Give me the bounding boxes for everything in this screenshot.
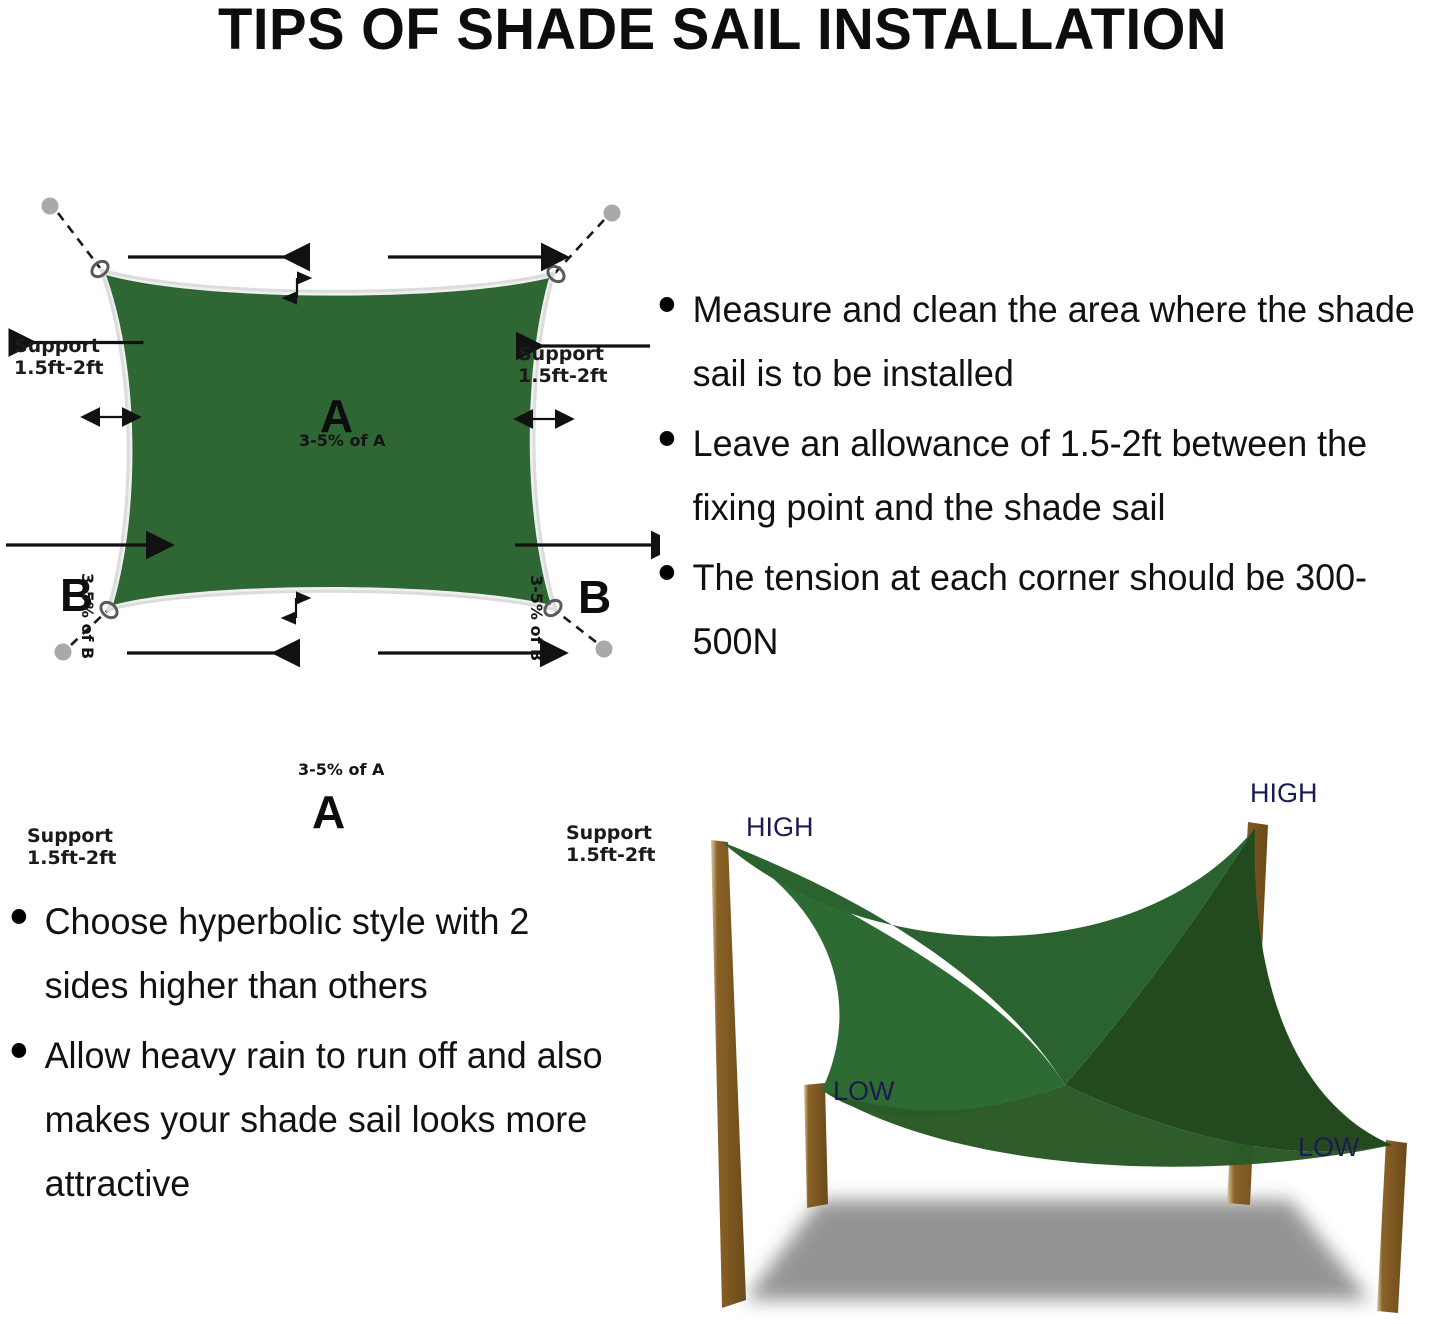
label-high-left: HIGH bbox=[746, 812, 814, 842]
label-low-left: LOW bbox=[833, 1076, 895, 1106]
support-label-bottom-right: Support 1.5ft-2ft bbox=[566, 822, 655, 866]
label-low-right: LOW bbox=[1298, 1132, 1360, 1162]
tips-list-installation: Measure and clean the area where the sha… bbox=[648, 278, 1424, 680]
infographic-page: TIPS OF SHADE SAIL INSTALLATION bbox=[0, 0, 1445, 1319]
hyperbolic-sail-diagram: HIGH HIGH LOW LOW bbox=[670, 780, 1445, 1319]
curve-percent-label-left: 3-5% of B bbox=[78, 573, 97, 659]
curve-percent-label-right: 3-5% of B bbox=[527, 575, 546, 661]
rect-sail-diagram: Support 1.5ft-2ft Support 1.5ft-2ft Supp… bbox=[0, 155, 660, 725]
list-item: Leave an allowance of 1.5-2ft between th… bbox=[648, 412, 1424, 540]
hyperbolic-sail-svg bbox=[670, 780, 1445, 1319]
support-dot-top-left bbox=[42, 198, 59, 215]
support-dot-top-right bbox=[604, 205, 621, 222]
tips-list-hyperbolic: Choose hyperbolic style with 2 sides hig… bbox=[0, 890, 621, 1222]
curve-percent-label-top: 3-5% of A bbox=[299, 431, 385, 450]
support-dot-bottom-left bbox=[55, 644, 72, 661]
list-item: Choose hyperbolic style with 2 sides hig… bbox=[0, 890, 621, 1018]
ground-shadow bbox=[745, 1200, 1370, 1300]
support-label-bottom-left: Support 1.5ft-2ft bbox=[27, 825, 116, 869]
post-high-left bbox=[711, 840, 746, 1308]
post-low-left bbox=[804, 1083, 828, 1208]
list-item: Measure and clean the area where the sha… bbox=[648, 278, 1424, 406]
page-title: TIPS OF SHADE SAIL INSTALLATION bbox=[22, 0, 1424, 62]
support-dot-bottom-right bbox=[596, 641, 613, 658]
dimension-label-b-right: B bbox=[578, 574, 611, 620]
support-label-top-left: Support 1.5ft-2ft bbox=[14, 335, 103, 379]
dimension-label-a-bottom: A bbox=[312, 789, 345, 835]
list-item: Allow heavy rain to run off and also mak… bbox=[0, 1024, 621, 1216]
curve-percent-label-bottom: 3-5% of A bbox=[298, 760, 384, 779]
post-low-right bbox=[1377, 1140, 1407, 1313]
support-label-top-right: Support 1.5ft-2ft bbox=[518, 343, 607, 387]
list-item: The tension at each corner should be 300… bbox=[648, 546, 1424, 674]
label-high-right: HIGH bbox=[1250, 778, 1318, 808]
